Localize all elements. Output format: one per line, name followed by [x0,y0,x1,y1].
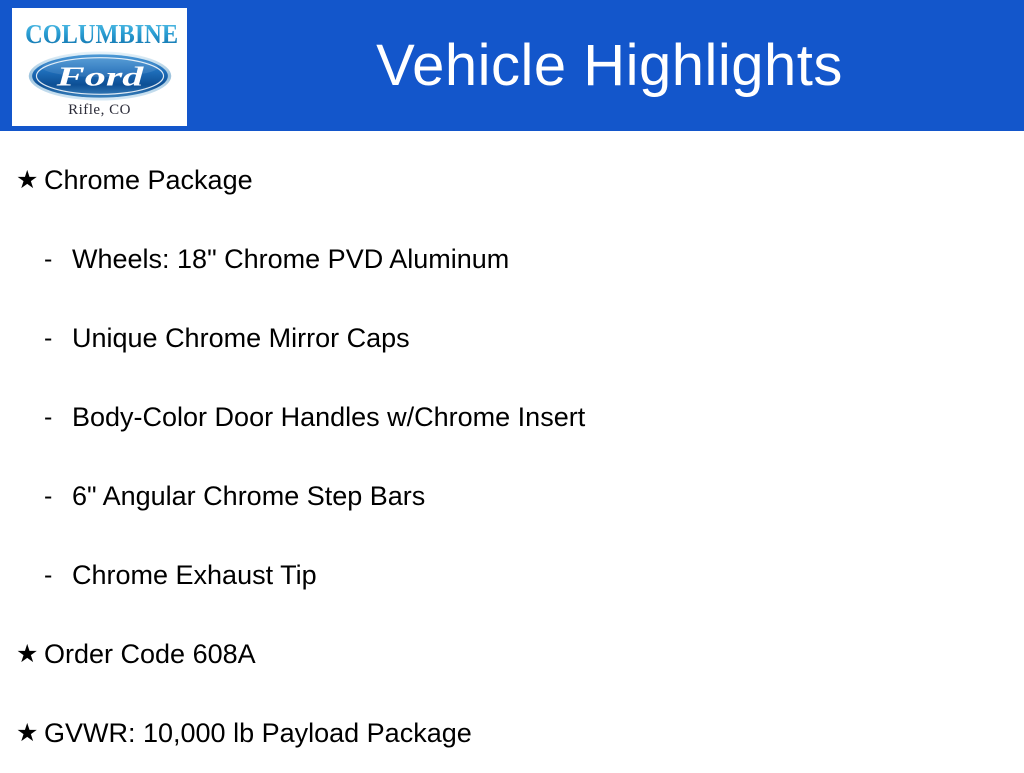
highlight-row: -Body-Color Door Handles w/Chrome Insert [0,378,1024,457]
highlight-row: -Unique Chrome Mirror Caps [0,299,1024,378]
dash-bullet-icon: - [44,405,72,430]
dealer-logo: COLUMBINE Ford Rif [12,8,187,126]
highlight-row: ★GVWR: 10,000 lb Payload Package [0,694,1024,773]
dash-bullet-icon: - [44,326,72,351]
highlight-label: GVWR: 10,000 lb Payload Package [44,718,472,749]
page-title: Vehicle Highlights [195,0,1024,131]
highlight-row: ★Order Code 608A [0,615,1024,694]
page-header: COLUMBINE Ford Rif [0,0,1024,131]
highlight-label: Chrome Package [44,165,253,196]
highlight-row: -Wheels: 18" Chrome PVD Aluminum [0,220,1024,299]
highlight-label: Chrome Exhaust Tip [72,560,317,591]
highlight-row: -Chrome Exhaust Tip [0,536,1024,615]
vehicle-highlights-list: ★Chrome Package-Wheels: 18" Chrome PVD A… [0,131,1024,773]
columbine-wordmark-icon: COLUMBINE [20,18,180,52]
highlight-label: Wheels: 18" Chrome PVD Aluminum [72,244,509,275]
columbine-wordmark-text: COLUMBINE [25,19,178,49]
dash-bullet-icon: - [44,484,72,509]
highlight-label: 6" Angular Chrome Step Bars [72,481,425,512]
highlight-label: Unique Chrome Mirror Caps [72,323,410,354]
star-bullet-icon: ★ [16,721,44,746]
ford-script-text: Ford [55,62,144,92]
highlight-label: Body-Color Door Handles w/Chrome Insert [72,402,585,433]
dash-bullet-icon: - [44,247,72,272]
star-bullet-icon: ★ [16,168,44,193]
star-bullet-icon: ★ [16,642,44,667]
highlight-label: Order Code 608A [44,639,256,670]
dealer-city-label: Rifle, CO [68,103,131,118]
dash-bullet-icon: - [44,563,72,588]
highlight-row: ★Chrome Package [0,141,1024,220]
ford-oval-icon: Ford [27,50,173,102]
highlight-row: -6" Angular Chrome Step Bars [0,457,1024,536]
